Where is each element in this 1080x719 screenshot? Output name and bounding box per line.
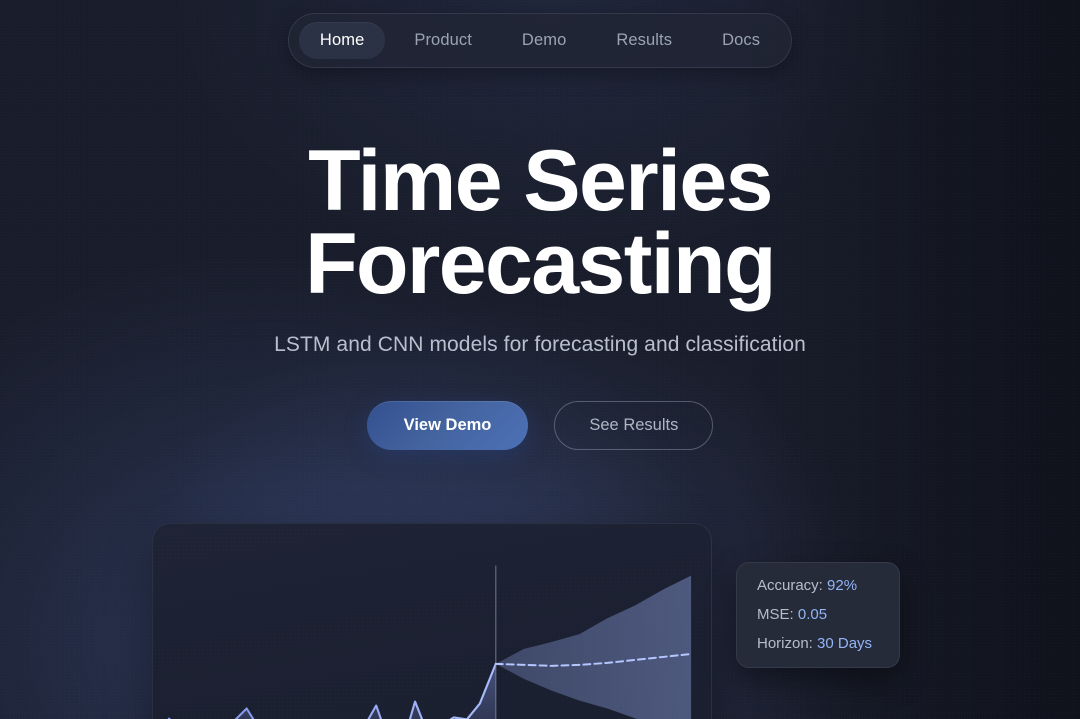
view-demo-button[interactable]: View Demo [367, 401, 529, 450]
metric-value-mse: 0.05 [798, 606, 827, 623]
nav-item-home[interactable]: Home [299, 22, 385, 59]
page-title-line-1: Time Series [308, 133, 772, 229]
confidence-band-area [496, 576, 691, 719]
metric-value-accuracy: 92% [827, 577, 857, 594]
metrics-card: Accuracy: 92% MSE: 0.05 Horizon: 30 Days [736, 562, 900, 668]
nav-item-product[interactable]: Product [393, 22, 493, 59]
metric-row-accuracy: Accuracy: 92% [757, 577, 882, 594]
forecast-chart-card[interactable] [152, 523, 712, 719]
nav-item-results[interactable]: Results [595, 22, 693, 59]
page-title-line-2: Forecasting [0, 223, 1080, 306]
historical-area-fill [169, 664, 496, 719]
metric-row-mse: MSE: 0.05 [757, 606, 882, 623]
see-results-button[interactable]: See Results [554, 401, 713, 450]
metric-label-accuracy: Accuracy: [757, 577, 823, 594]
hero-subtitle: LSTM and CNN models for forecasting and … [0, 333, 1080, 357]
page-title: Time Series Forecasting [0, 140, 1080, 305]
nav-item-docs[interactable]: Docs [701, 22, 781, 59]
cta-button-group: View Demo See Results [0, 401, 1080, 450]
metric-row-horizon: Horizon: 30 Days [757, 635, 882, 652]
nav-item-demo[interactable]: Demo [501, 22, 587, 59]
historical-line [169, 664, 496, 719]
metric-label-mse: MSE: [757, 606, 794, 623]
primary-navigation: Home Product Demo Results Docs [288, 13, 792, 68]
forecast-chart [153, 524, 711, 719]
metric-label-horizon: Horizon: [757, 635, 813, 652]
metric-value-horizon: 30 Days [817, 635, 872, 652]
